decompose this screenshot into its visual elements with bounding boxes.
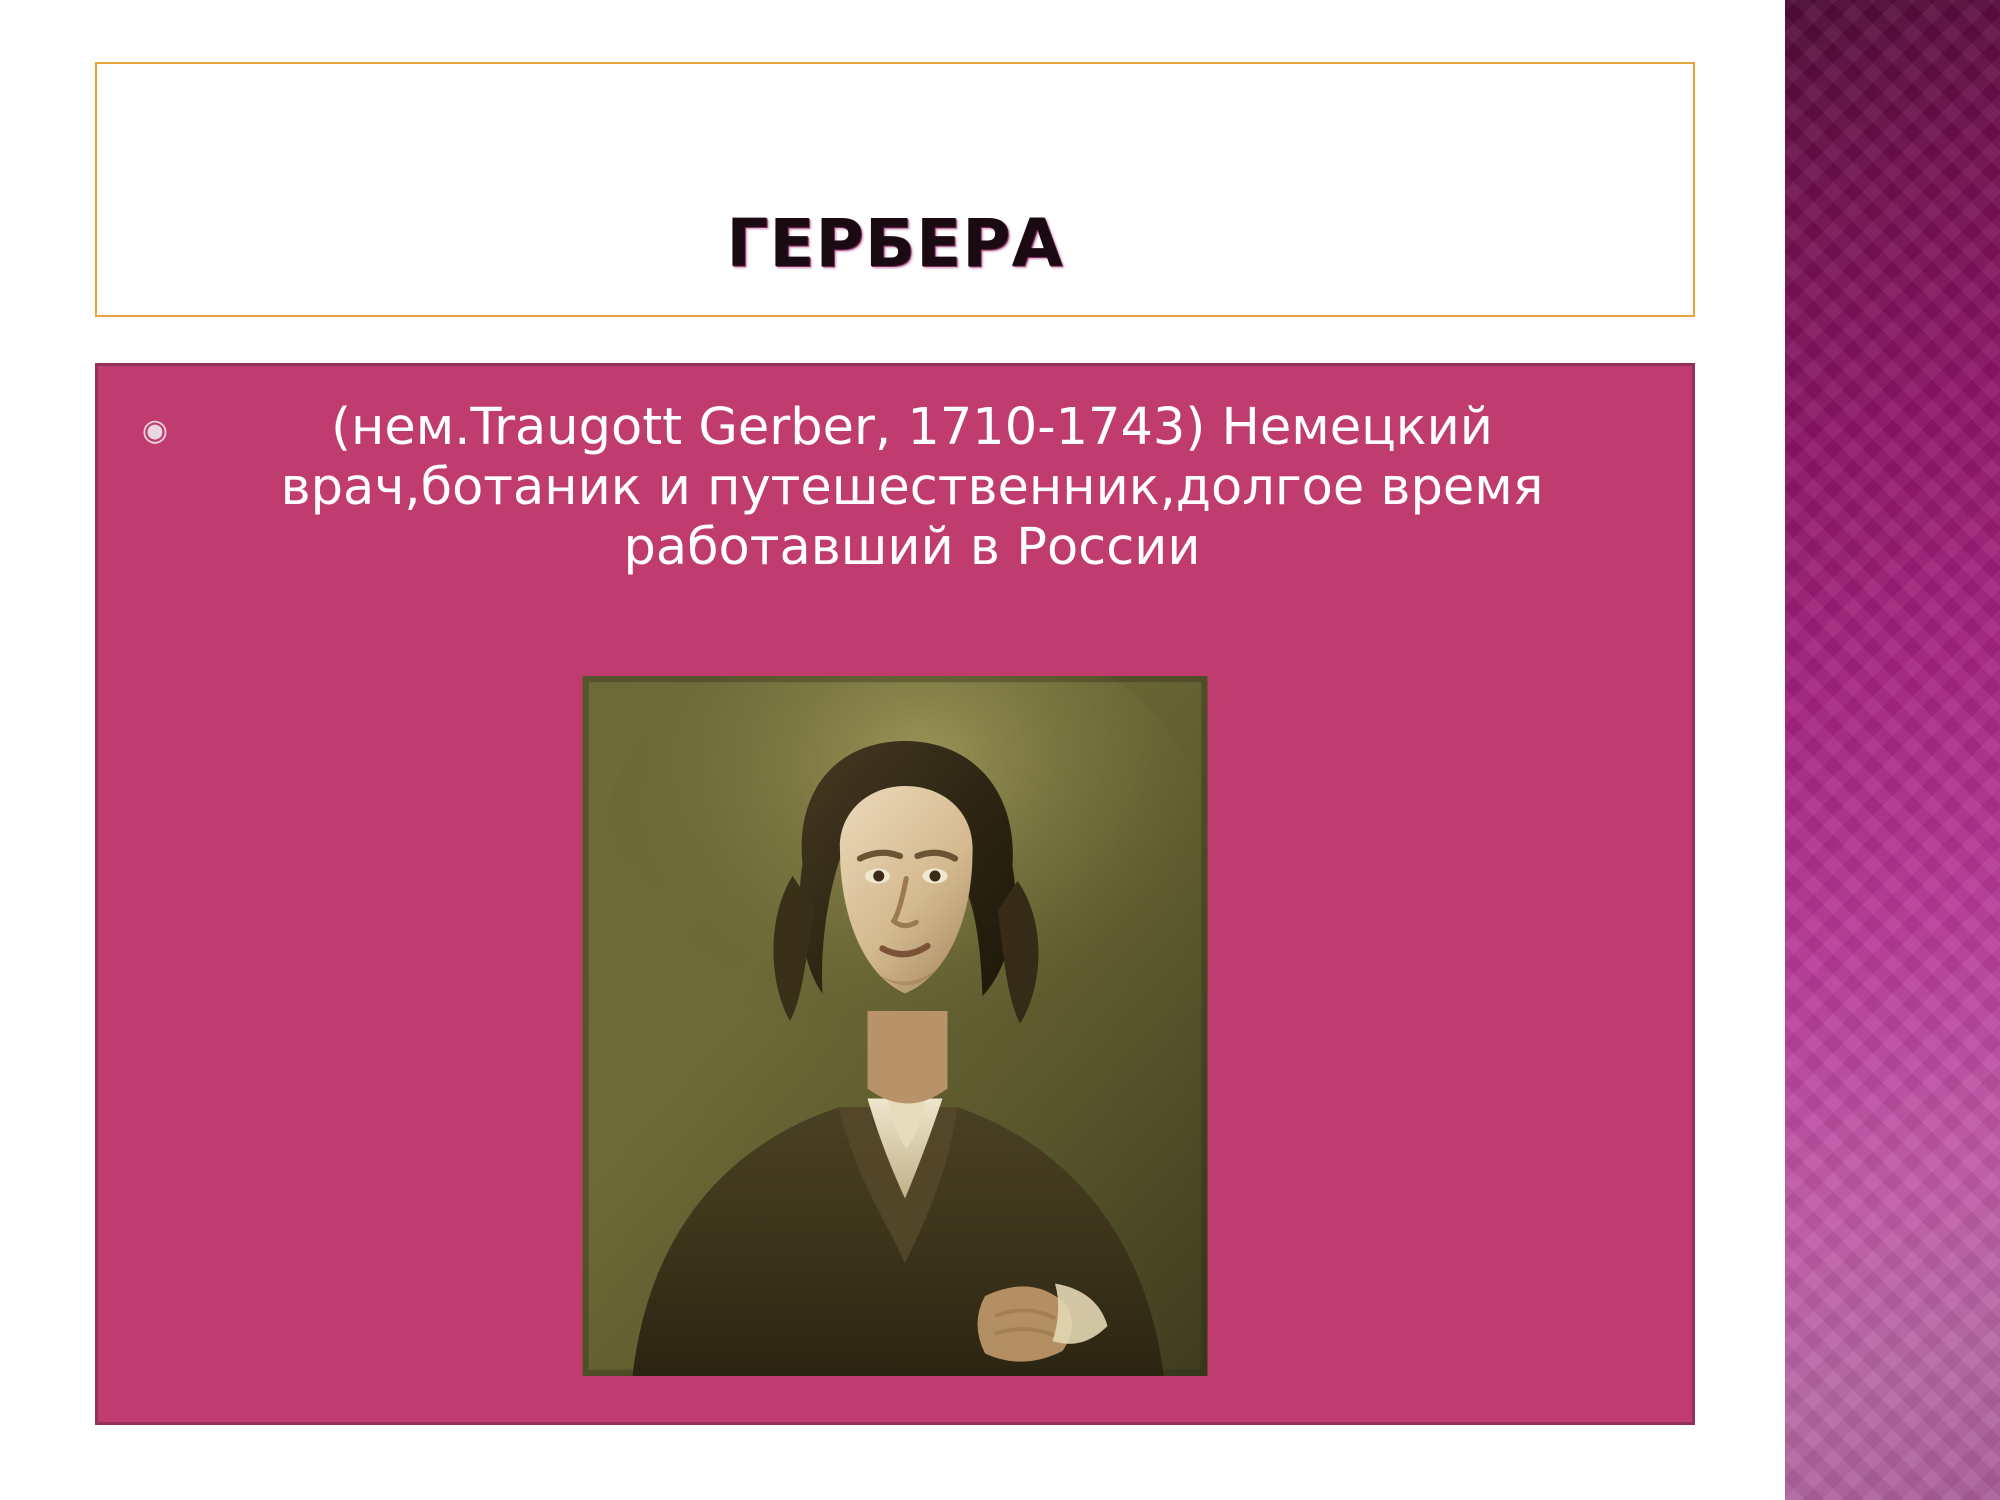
portrait-image: [583, 676, 1208, 1376]
decorative-side-band: [1785, 0, 2000, 1500]
bullet-point-icon: ◉: [138, 416, 172, 446]
content-panel: ◉ (нем.Traugott Gerber, 1710-1743) Немец…: [95, 363, 1695, 1425]
page-title: Гербера: [726, 211, 1063, 315]
body-text: (нем.Traugott Gerber, 1710-1743) Немецки…: [172, 398, 1652, 579]
slide: Гербера ◉ (нем.Traugott Gerber, 1710-174…: [0, 0, 2000, 1500]
portrait-illustration: [583, 676, 1208, 1376]
bullet-list-item: ◉ (нем.Traugott Gerber, 1710-1743) Немец…: [98, 366, 1692, 579]
title-box: Гербера: [95, 62, 1695, 317]
decorative-side-band-pattern: [1785, 0, 2000, 1500]
